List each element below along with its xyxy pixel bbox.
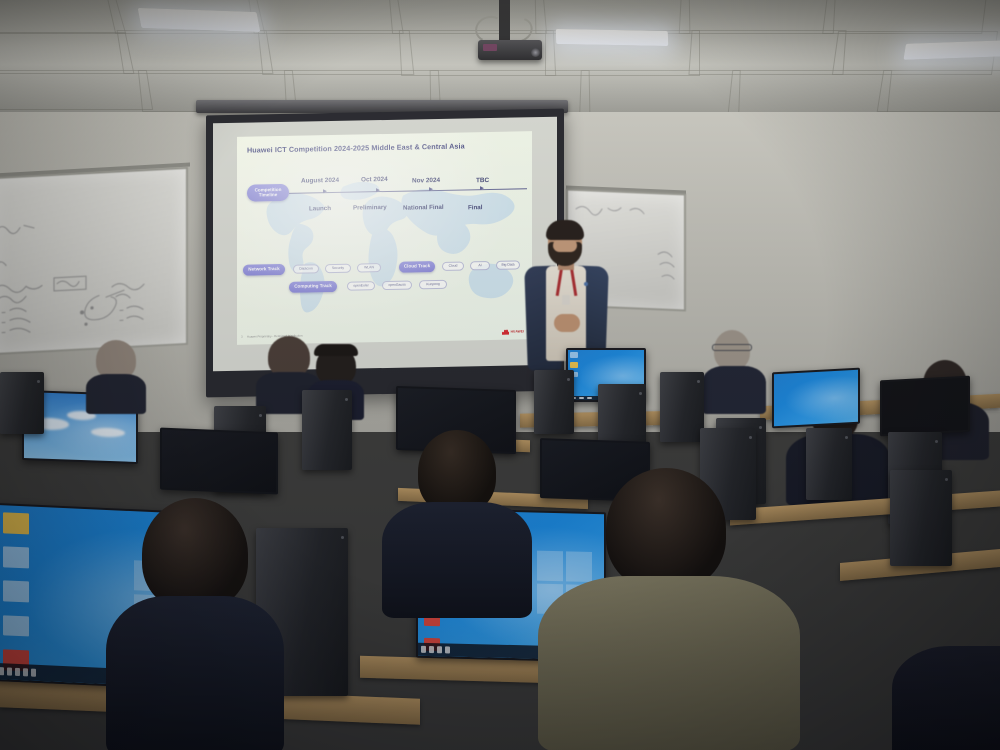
presentation-slide: Huawei ICT Competition 2024-2025 Middle …	[237, 131, 532, 345]
pc-tower-row2-c	[302, 390, 352, 470]
whiteboard-left	[0, 167, 188, 355]
presenter-lapel-pin	[584, 282, 588, 286]
track-cloud-item-0: Cloud	[442, 261, 464, 270]
whiteboard-handwriting	[0, 193, 190, 353]
student-foreground-left	[118, 498, 268, 750]
track-item-label: openEuler	[353, 284, 368, 288]
track-item-label: Cloud	[449, 264, 458, 268]
track-network-item-1: Security	[325, 264, 351, 273]
track-cloud-item-1: AI	[470, 261, 490, 270]
track-computing-item-0: openEuler	[347, 281, 375, 291]
track-computing-item-1: openGauss	[382, 280, 412, 290]
track-cloud-item-2: Big Data	[496, 260, 520, 269]
track-network-item-2: WLAN	[357, 263, 381, 272]
track-item-label: openGauss	[388, 283, 405, 287]
presenter-face	[553, 239, 577, 252]
projector-lens	[531, 48, 540, 57]
track-item-label: AI	[478, 264, 481, 268]
classroom-photo-scene: Huawei ICT Competition 2024-2025 Middle …	[0, 0, 1000, 750]
milestone-date-2: Nov 2024	[412, 177, 440, 185]
pc-tower-stage-3	[660, 372, 704, 442]
ceiling-light-right	[903, 40, 1000, 60]
timeline-badge-line2: Timeline	[259, 193, 278, 198]
milestone-date-0: August 2024	[301, 177, 339, 185]
track-cloud-badge: Cloud Track	[399, 261, 435, 273]
student-row2-right	[388, 430, 518, 610]
monitor-back-right-2	[880, 376, 970, 437]
pc-tower-row2-a	[0, 372, 44, 434]
track-computing-badge: Computing Track	[289, 281, 337, 293]
timeline-badge: Competition Timeline	[247, 184, 289, 202]
milestone-stage-3: Final	[468, 204, 482, 211]
ceiling-light-left	[138, 8, 261, 32]
milestone-stage-0: Launch	[309, 205, 331, 212]
milestone-stage-1: Preliminary	[353, 204, 387, 212]
track-item-label: Security	[332, 267, 344, 271]
pc-tower-back-right-3	[806, 428, 852, 500]
milestone-stage-2: National Final	[403, 204, 444, 212]
track-computing-label: Computing Track	[294, 284, 332, 290]
presenter-hands	[554, 314, 580, 332]
track-cloud-label: Cloud Track	[404, 264, 430, 269]
student-foreground-right	[560, 468, 780, 750]
presenter-hair	[546, 220, 584, 240]
track-network-badge: Network Track	[243, 264, 285, 276]
slide-page-number: 3	[241, 335, 243, 339]
monitor-back-right-1	[772, 368, 860, 429]
attendee-back-right	[700, 330, 770, 408]
track-item-label: Big Data	[501, 263, 514, 267]
pc-tower-right-front	[890, 470, 952, 566]
milestone-date-1: Oct 2024	[361, 176, 388, 184]
pc-tower-stage-1	[534, 370, 574, 434]
track-item-label: Datacom	[299, 267, 313, 271]
track-item-label: WLAN	[364, 266, 374, 270]
projector-screen: Huawei ICT Competition 2024-2025 Middle …	[213, 117, 557, 372]
presenter-badge	[562, 295, 570, 305]
ceiling-light-center	[556, 29, 669, 46]
slide-title: Huawei ICT Competition 2024-2025 Middle …	[247, 141, 465, 154]
track-network-label: Network Track	[248, 267, 279, 272]
track-item-label: Kunpeng	[426, 283, 440, 287]
huawei-mark-icon	[502, 329, 509, 335]
milestone-date-3: TBC	[476, 177, 489, 184]
monitor-row1-left-dark	[160, 428, 278, 495]
attendee-left-back	[86, 340, 146, 402]
track-computing-item-2: Kunpeng	[419, 280, 447, 290]
desktop-icons[interactable]	[3, 512, 30, 663]
track-network-item-0: Datacom	[293, 264, 319, 273]
student-foreground-far-right	[912, 560, 1000, 750]
